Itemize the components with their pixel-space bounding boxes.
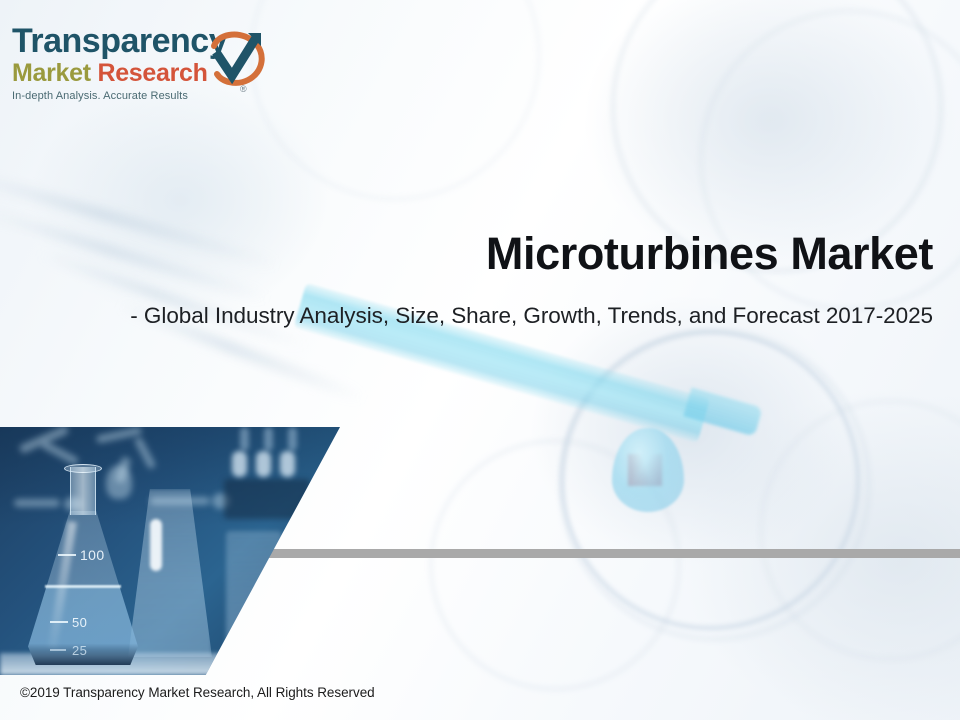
chalkboard-mark <box>133 436 156 470</box>
test-tube <box>256 451 271 477</box>
registered-trademark-icon: ® <box>240 84 247 94</box>
test-tube <box>264 427 273 451</box>
background-flask <box>128 489 212 657</box>
flask-graduation-25: 25 <box>72 643 87 658</box>
test-tube <box>240 427 249 451</box>
test-tube <box>232 451 247 477</box>
flask-tick-mark <box>50 649 66 651</box>
erlenmeyer-flask: 100 50 25 <box>28 467 138 665</box>
flask-tick-mark <box>50 621 68 623</box>
glass-rim-decor <box>250 0 540 200</box>
copyright-footer: ©2019 Transparency Market Research, All … <box>20 685 375 700</box>
flask-body <box>28 511 138 665</box>
report-subtitle: - Global Industry Analysis, Size, Share,… <box>40 302 933 329</box>
test-tube <box>280 451 295 477</box>
logo-checkmark-arrow-icon <box>208 30 270 92</box>
report-cover-slide: Transparency ® Market Research In-depth … <box>0 0 960 720</box>
flask-tick-mark <box>58 554 76 556</box>
flask-neck <box>70 467 96 515</box>
logo-word-research: Research <box>97 59 207 87</box>
logo-word-market: Market <box>12 59 91 87</box>
horizontal-rule-bar <box>265 549 960 558</box>
title-block: Microturbines Market - Global Industry A… <box>40 228 933 329</box>
report-title: Microturbines Market <box>40 228 933 280</box>
company-logo[interactable]: Transparency ® Market Research In-depth … <box>12 24 282 102</box>
flask-graduation-100: 100 <box>80 547 105 563</box>
background-flask-label <box>150 519 162 571</box>
chalkboard-mark <box>40 440 79 466</box>
test-tube <box>288 427 297 451</box>
logo-word-transparency: Transparency <box>12 22 227 60</box>
flask-graduation-50: 50 <box>72 615 87 630</box>
